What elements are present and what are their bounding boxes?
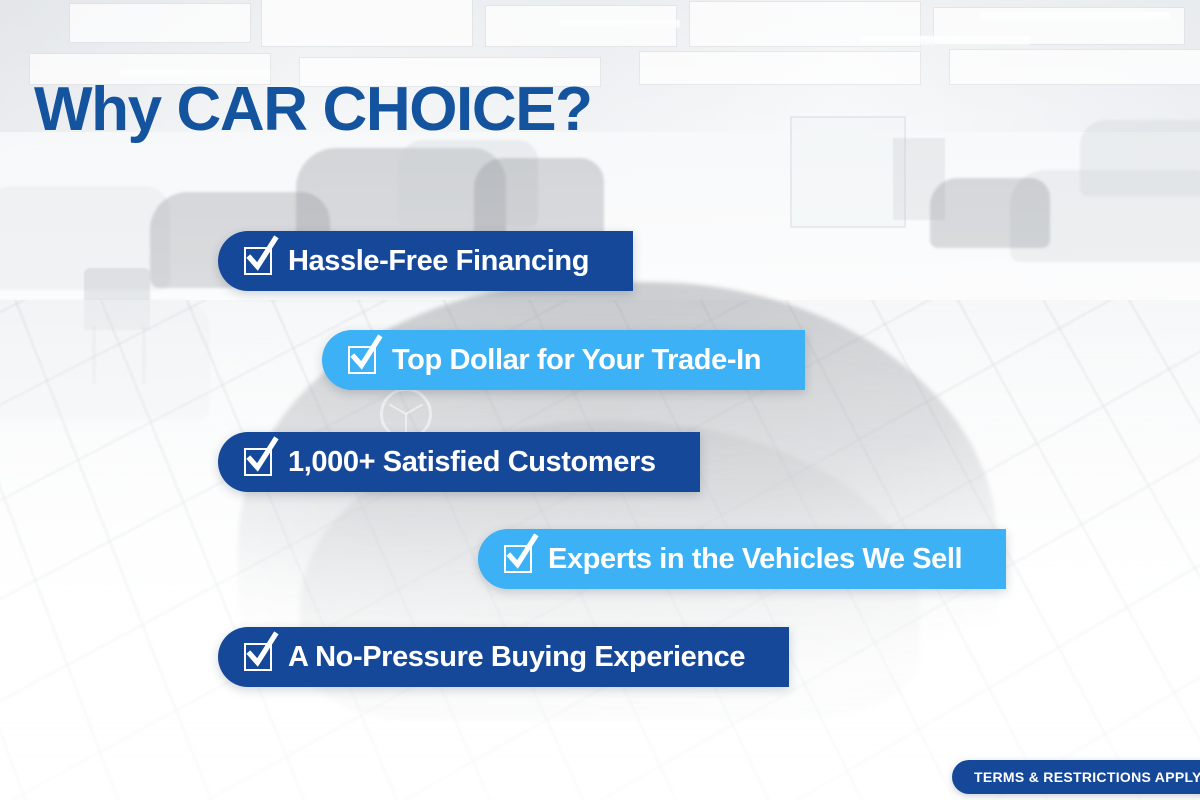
terms-and-restrictions-badge[interactable]: TERMS & RESTRICTIONS APPLY: [952, 760, 1200, 794]
feature-pill-a-no-pressure-buying-experience[interactable]: A No-Pressure Buying Experience: [218, 627, 789, 687]
feature-pill-top-dollar-for-your-trade-in[interactable]: Top Dollar for Your Trade-In: [322, 330, 805, 390]
feature-pill-1000-satisfied-customers[interactable]: 1,000+ Satisfied Customers: [218, 432, 700, 492]
feature-pill-label: Top Dollar for Your Trade-In: [392, 346, 761, 375]
promo-banner: Why CAR CHOICE? Hassle-Free Financing To…: [0, 0, 1200, 800]
feature-pill-label: 1,000+ Satisfied Customers: [288, 448, 656, 477]
checkbox-checked-icon: [504, 545, 532, 573]
checkbox-checked-icon: [348, 346, 376, 374]
feature-pill-experts-in-the-vehicles-we-sell[interactable]: Experts in the Vehicles We Sell: [478, 529, 1006, 589]
feature-pill-hassle-free-financing[interactable]: Hassle-Free Financing: [218, 231, 633, 291]
page-title: Why CAR CHOICE?: [34, 78, 592, 141]
terms-badge-label: TERMS & RESTRICTIONS APPLY: [974, 769, 1200, 785]
feature-pill-label: Experts in the Vehicles We Sell: [548, 545, 962, 574]
checkbox-checked-icon: [244, 247, 272, 275]
feature-pill-label: Hassle-Free Financing: [288, 247, 589, 276]
checkbox-checked-icon: [244, 643, 272, 671]
checkbox-checked-icon: [244, 448, 272, 476]
feature-pill-label: A No-Pressure Buying Experience: [288, 643, 745, 672]
